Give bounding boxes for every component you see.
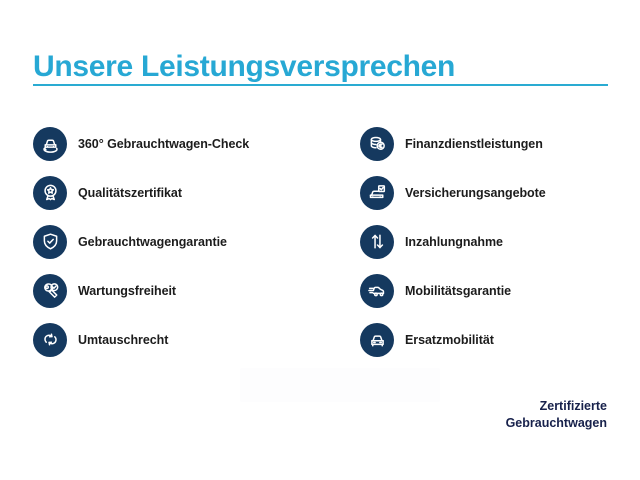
quality-seal-icon bbox=[33, 176, 67, 210]
benefit-label: Versicherungsangebote bbox=[405, 186, 546, 200]
benefit-label: Qualitätszertifikat bbox=[78, 186, 182, 200]
benefit-item-wartungsfreiheit[interactable]: Wartungsfreiheit bbox=[33, 266, 333, 315]
benefit-label: Umtauschrecht bbox=[78, 333, 168, 347]
benefit-item-gebrauchtwagengarantie[interactable]: Gebrauchtwagengarantie bbox=[33, 217, 333, 266]
benefit-label: Gebrauchtwagengarantie bbox=[78, 235, 227, 249]
benefit-label: Finanzdienstleistungen bbox=[405, 137, 543, 151]
slide-canvas: Unsere Leistungsversprechen 360° G bbox=[0, 0, 640, 480]
car-insurance-check-icon bbox=[360, 176, 394, 210]
arrows-up-down-icon bbox=[360, 225, 394, 259]
benefit-item-ersatzmobilitaet[interactable]: Ersatzmobilität bbox=[360, 315, 630, 364]
wrench-check-icon bbox=[33, 274, 67, 308]
brand-mark: Zertifizierte Gebrauchtwagen bbox=[506, 398, 607, 432]
benefit-label: Mobilitätsgarantie bbox=[405, 284, 511, 298]
coins-euro-icon bbox=[360, 127, 394, 161]
brand-line-2: Gebrauchtwagen bbox=[506, 415, 607, 432]
benefit-label: 360° Gebrauchtwagen-Check bbox=[78, 137, 249, 151]
benefit-item-umtauschrecht[interactable]: Umtauschrecht bbox=[33, 315, 333, 364]
benefit-label: Inzahlungnahme bbox=[405, 235, 503, 249]
benefit-item-inzahlungnahme[interactable]: Inzahlungnahme bbox=[360, 217, 630, 266]
benefit-item-qualitaetszertifikat[interactable]: Qualitätszertifikat bbox=[33, 168, 333, 217]
benefit-label: Wartungsfreiheit bbox=[78, 284, 176, 298]
background-watermark bbox=[240, 368, 440, 402]
page-title: Unsere Leistungsversprechen bbox=[33, 50, 455, 83]
benefits-column-left: 360° Gebrauchtwagen-Check Qualitätszerti… bbox=[33, 119, 333, 364]
car-speed-icon bbox=[360, 274, 394, 308]
shield-check-icon bbox=[33, 225, 67, 259]
exchange-arrows-icon bbox=[33, 323, 67, 357]
title-divider bbox=[33, 84, 608, 86]
benefit-label: Ersatzmobilität bbox=[405, 333, 494, 347]
benefit-item-mobilitaetsgarantie[interactable]: Mobilitätsgarantie bbox=[360, 266, 630, 315]
benefits-column-right: Finanzdienstleistungen Versicherungsange… bbox=[360, 119, 630, 364]
car-360-check-icon bbox=[33, 127, 67, 161]
car-front-icon bbox=[360, 323, 394, 357]
benefit-item-versicherungsangebote[interactable]: Versicherungsangebote bbox=[360, 168, 630, 217]
brand-line-1: Zertifizierte bbox=[506, 398, 607, 415]
benefit-item-finanzdienstleistungen[interactable]: Finanzdienstleistungen bbox=[360, 119, 630, 168]
benefit-item-gebrauchtwagen-check[interactable]: 360° Gebrauchtwagen-Check bbox=[33, 119, 333, 168]
